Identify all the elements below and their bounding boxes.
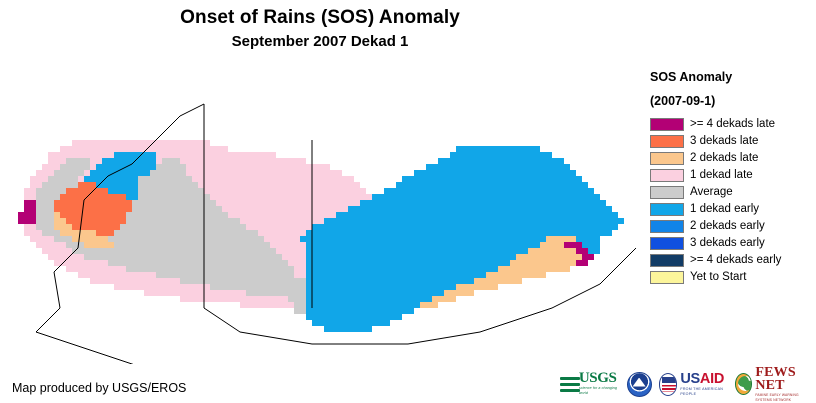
usaid-wordmark: USAID — [680, 372, 728, 386]
legend-row[interactable]: 2 dekads late — [650, 150, 816, 167]
legend-label: Yet to Start — [690, 271, 746, 284]
legend-row[interactable]: 3 dekads late — [650, 133, 816, 150]
fewsnet-tagline: FAMINE EARLY WARNING SYSTEMS NETWORK — [755, 393, 816, 403]
usaid-tagline: FROM THE AMERICAN PEOPLE — [680, 387, 728, 397]
usaid-us: US — [680, 371, 700, 387]
legend-label: 2 dekads late — [690, 152, 758, 165]
fewsnet-logo: FEWS NET FAMINE EARLY WARNING SYSTEMS NE… — [735, 370, 816, 398]
page-title: Onset of Rains (SOS) Anomaly — [0, 6, 640, 30]
legend-swatch — [650, 152, 684, 165]
legend-row[interactable]: Average — [650, 184, 816, 201]
fewsnet-globe-icon — [735, 373, 752, 395]
legend-label: 3 dekads late — [690, 135, 758, 148]
legend-swatch — [650, 186, 684, 199]
usgs-wordmark: USGS — [579, 372, 620, 385]
legend-label: >= 4 dekads late — [690, 118, 775, 131]
legend-label: 2 dekads early — [690, 220, 765, 233]
title-block: Onset of Rains (SOS) Anomaly September 2… — [0, 6, 640, 52]
page-subtitle: September 2007 Dekad 1 — [0, 32, 640, 52]
legend-row[interactable]: 3 dekads early — [650, 235, 816, 252]
noaa-logo — [627, 370, 652, 398]
fewsnet-wordmark: FEWS NET — [755, 366, 816, 392]
legend-row[interactable]: >= 4 dekads early — [650, 252, 816, 269]
legend-swatch — [650, 169, 684, 182]
legend-swatch — [650, 271, 684, 284]
noaa-seal-icon — [627, 372, 652, 397]
map-panel[interactable] — [0, 68, 643, 364]
credit-text: Map produced by USGS/EROS — [12, 381, 186, 396]
legend-swatch — [650, 220, 684, 233]
legend-swatch — [650, 254, 684, 267]
map-page: Onset of Rains (SOS) Anomaly September 2… — [0, 0, 816, 403]
legend-rows: >= 4 dekads late3 dekads late2 dekads la… — [650, 116, 816, 286]
usgs-wave-icon — [560, 376, 577, 393]
logo-strip: USGS science for a changing world USAID … — [560, 369, 816, 399]
legend-label: 3 dekads early — [690, 237, 765, 250]
usaid-seal-icon — [659, 373, 678, 396]
map-legend-divider — [642, 68, 643, 364]
legend-row[interactable]: 1 dekad late — [650, 167, 816, 184]
legend-swatch — [650, 118, 684, 131]
usgs-tagline: science for a changing world — [579, 386, 620, 396]
legend-date: (2007-09-1) — [650, 94, 816, 109]
sos-anomaly-map[interactable] — [0, 68, 643, 364]
legend-heading: SOS Anomaly — [650, 70, 816, 85]
legend-label: 1 dekad late — [690, 169, 753, 182]
legend-row[interactable]: >= 4 dekads late — [650, 116, 816, 133]
legend-row[interactable]: 2 dekads early — [650, 218, 816, 235]
legend-panel: SOS Anomaly (2007-09-1) >= 4 dekads late… — [650, 70, 816, 286]
legend-label: >= 4 dekads early — [690, 254, 781, 267]
legend-label: 1 dekad early — [690, 203, 759, 216]
legend-swatch — [650, 237, 684, 250]
usaid-aid: AID — [700, 371, 724, 387]
legend-swatch — [650, 203, 684, 216]
usaid-logo: USAID FROM THE AMERICAN PEOPLE — [659, 370, 729, 398]
legend-row[interactable]: Yet to Start — [650, 269, 816, 286]
legend-label: Average — [690, 186, 733, 199]
legend-swatch — [650, 135, 684, 148]
usgs-logo: USGS science for a changing world — [560, 370, 620, 398]
legend-row[interactable]: 1 dekad early — [650, 201, 816, 218]
